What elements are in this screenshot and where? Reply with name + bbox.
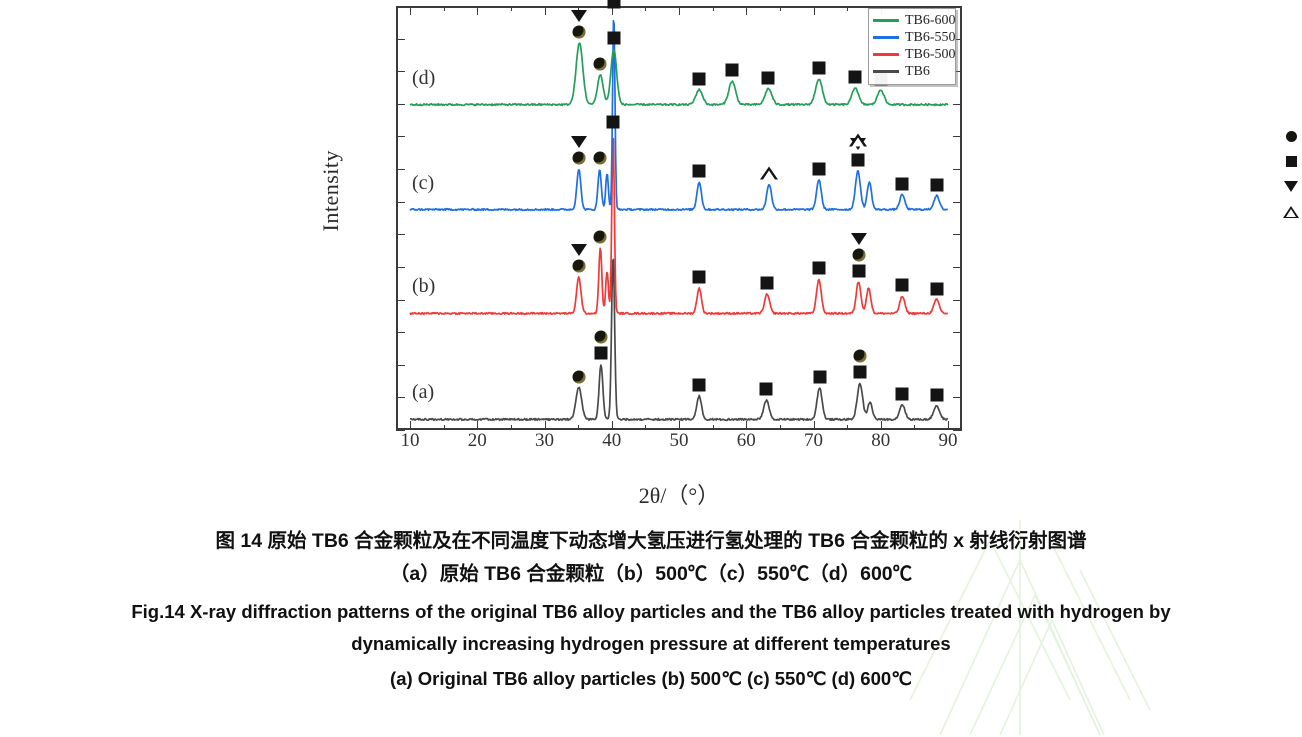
caption-en-line1: Fig.14 X-ray diffraction patterns of the… — [0, 588, 1302, 625]
xrd-chart: Intensity 2θ/（°） (a)(b)(c)(d) α 相β 相δ 相ω… — [0, 0, 1302, 520]
alpha-phase-marker — [572, 152, 585, 165]
beta-phase-marker — [607, 32, 620, 45]
x-tick-label-10: 10 — [401, 430, 420, 452]
beta-phase-marker — [813, 370, 826, 383]
x-tick-label-40: 40 — [602, 430, 621, 452]
filled-square-icon — [1282, 156, 1300, 167]
phase-legend-item: β 相 — [1282, 149, 1302, 174]
legend-label-tb6-500: TB6-500 — [905, 47, 956, 63]
beta-phase-marker — [812, 62, 825, 75]
beta-phase-marker — [607, 0, 620, 9]
delta-phase-marker — [571, 136, 587, 148]
x-tick-label-20: 20 — [468, 430, 487, 452]
beta-phase-marker — [761, 277, 774, 290]
filled-square-glyph — [1286, 156, 1297, 167]
delta-phase-marker — [571, 244, 587, 256]
beta-phase-marker — [812, 162, 825, 175]
alpha-phase-marker — [594, 331, 607, 344]
trace-label-c: (c) — [412, 172, 434, 195]
beta-phase-marker — [852, 264, 865, 277]
x-tick-label-80: 80 — [871, 430, 890, 452]
legend-item-tb6[interactable]: TB6 — [873, 63, 951, 80]
curve-tb6-500 — [410, 139, 948, 315]
alpha-phase-marker — [853, 350, 866, 363]
alpha-phase-marker — [594, 230, 607, 243]
alpha-phase-marker — [852, 248, 865, 261]
alpha-phase-marker — [593, 152, 606, 165]
caption-zh-line2: （a）原始 TB6 合金颗粒（b）500℃（c）550℃（d）600℃ — [0, 556, 1302, 589]
phase-legend-item: δ 相 — [1282, 174, 1302, 199]
caption-en-line2: dynamically increasing hydrogen pressure… — [0, 626, 1302, 657]
x-tick-label-30: 30 — [535, 430, 554, 452]
x-axis-title: 2θ/（°） — [396, 478, 962, 510]
legend-label-tb6-600: TB6-600 — [905, 13, 956, 29]
filled-circle-icon — [1282, 131, 1300, 142]
omega-phase-marker — [760, 167, 778, 180]
trace-label-b: (b) — [412, 275, 435, 298]
legend-item-tb6-600[interactable]: TB6-600 — [873, 12, 951, 29]
beta-phase-marker — [853, 366, 866, 379]
beta-phase-marker — [726, 64, 739, 77]
x-tick-label-70: 70 — [804, 430, 823, 452]
caption-en-line3: (a) Original TB6 alloy particles (b) 500… — [0, 657, 1302, 692]
trace-label-d: (d) — [412, 67, 435, 90]
beta-phase-marker — [812, 262, 825, 275]
figure-page: Intensity 2θ/（°） (a)(b)(c)(d) α 相β 相δ 相ω… — [0, 0, 1302, 737]
beta-phase-marker — [607, 116, 620, 129]
x-tick-label-90: 90 — [939, 430, 958, 452]
beta-phase-marker — [896, 387, 909, 400]
beta-phase-marker — [594, 347, 607, 360]
beta-phase-marker — [930, 178, 943, 191]
phase-legend-item: α 相 — [1282, 124, 1302, 149]
beta-phase-marker — [762, 71, 775, 84]
omega-phase-marker — [849, 134, 867, 147]
phase-legend-item: ω 相 — [1282, 199, 1302, 224]
phase-legend: α 相β 相δ 相ω 相 — [1282, 124, 1302, 224]
alpha-phase-marker — [594, 57, 607, 70]
beta-phase-marker — [896, 177, 909, 190]
beta-phase-marker — [693, 379, 706, 392]
legend-item-tb6-500[interactable]: TB6-500 — [873, 46, 951, 63]
beta-phase-marker — [930, 282, 943, 295]
legend-label-tb6-550: TB6-550 — [905, 30, 956, 46]
legend-swatch-tb6-550 — [873, 36, 899, 39]
delta-phase-marker — [571, 10, 587, 22]
legend-swatch-tb6 — [873, 70, 899, 73]
beta-phase-marker — [693, 270, 706, 283]
open-triangle-up-glyph — [1283, 206, 1299, 218]
x-tick-label-60: 60 — [737, 430, 756, 452]
y-axis-title: Intensity — [318, 150, 344, 232]
x-tick-label-50: 50 — [670, 430, 689, 452]
open-triangle-up-icon — [1282, 206, 1300, 218]
filled-triangle-down-glyph — [1284, 181, 1298, 192]
alpha-phase-marker — [573, 26, 586, 39]
legend-item-tb6-550[interactable]: TB6-550 — [873, 29, 951, 46]
beta-phase-marker — [896, 279, 909, 292]
filled-triangle-down-icon — [1282, 181, 1300, 192]
beta-phase-marker — [851, 154, 864, 167]
filled-circle-glyph — [1286, 131, 1297, 142]
legend-swatch-tb6-600 — [873, 19, 899, 22]
series-legend: TB6-600TB6-550TB6-500TB6 — [868, 8, 956, 85]
caption-zh-line1: 图 14 原始 TB6 合金颗粒及在不同温度下动态增大氢压进行氢处理的 TB6 … — [0, 520, 1302, 556]
beta-phase-marker — [760, 383, 773, 396]
legend-swatch-tb6-500 — [873, 53, 899, 56]
alpha-phase-marker — [572, 260, 585, 273]
legend-label-tb6: TB6 — [905, 64, 930, 80]
figure-caption: 图 14 原始 TB6 合金颗粒及在不同温度下动态增大氢压进行氢处理的 TB6 … — [0, 520, 1302, 692]
alpha-phase-marker — [572, 370, 585, 383]
beta-phase-marker — [693, 72, 706, 85]
trace-label-a: (a) — [412, 381, 434, 404]
beta-phase-marker — [930, 388, 943, 401]
curve-tb6 — [410, 259, 948, 420]
beta-phase-marker — [693, 164, 706, 177]
delta-phase-marker — [851, 233, 867, 245]
beta-phase-marker — [849, 70, 862, 83]
